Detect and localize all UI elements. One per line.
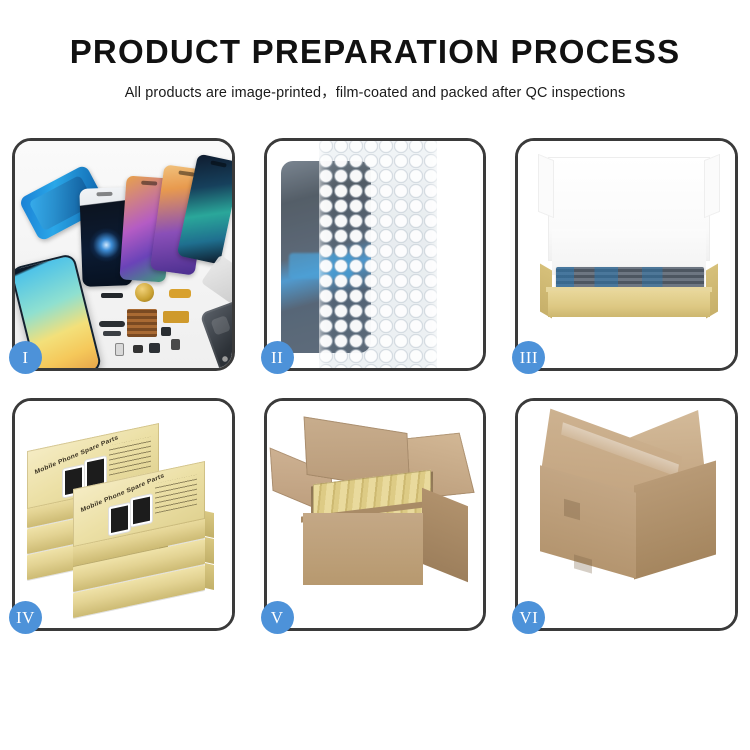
step-badge-2: II: [261, 341, 294, 374]
step-badge-5: V: [261, 601, 294, 634]
step-badge-4: IV: [9, 601, 42, 634]
gold-flex-icon: [163, 311, 189, 323]
step-panel-3[interactable]: III: [515, 138, 738, 371]
small-component-icon: [161, 327, 171, 336]
sim-tray-icon: [115, 343, 124, 356]
step-3-image: [518, 141, 735, 368]
step-4-image: Mobile Phone Spare Parts Mobile Phone Sp…: [15, 401, 232, 628]
step-2-image: [267, 141, 484, 368]
box-side: [205, 537, 214, 564]
notch-icon: [178, 170, 194, 176]
step-badge-1: I: [9, 341, 42, 374]
notch-icon: [210, 160, 226, 167]
step-panel-1[interactable]: I: [12, 138, 235, 371]
page-subtitle: All products are image-printed，film-coat…: [0, 81, 750, 102]
small-component-icon: [133, 345, 143, 353]
bubble-wrap-edge-highlight: [319, 141, 437, 368]
earpiece-bar-icon: [101, 293, 123, 298]
retail-box-stack: Mobile Phone Spare Parts Mobile Phone Sp…: [21, 415, 232, 615]
process-row-bottom: Mobile Phone Spare Parts Mobile Phone Sp…: [12, 398, 738, 631]
page-title: PRODUCT PREPARATION PROCESS: [0, 34, 750, 70]
step-badge-6: VI: [512, 601, 545, 634]
phone-photo-icon: [109, 503, 130, 535]
ribbon-cable-icon: [103, 331, 121, 336]
box-side: [205, 563, 214, 590]
page-header: PRODUCT PREPARATION PROCESS All products…: [0, 0, 750, 102]
box-spec-lines: [109, 437, 151, 476]
process-row-top: I II III: [12, 138, 738, 371]
speaker-coil-icon: [135, 283, 154, 302]
camera-module-icon: [149, 343, 160, 353]
notch-icon: [141, 181, 157, 186]
box-side: [205, 511, 214, 538]
box-front-panel: [548, 291, 710, 317]
step-panel-2[interactable]: II: [264, 138, 487, 371]
step-panel-6[interactable]: VI: [515, 398, 738, 631]
step-panel-5[interactable]: V: [264, 398, 487, 631]
process-steps-grid: I II III: [12, 138, 738, 631]
chip-grid-icon: [127, 309, 157, 337]
step-badge-3: III: [512, 341, 545, 374]
small-component-icon: [171, 339, 180, 350]
phone-photo-icon: [131, 494, 152, 526]
step-6-image: [518, 401, 735, 628]
spare-parts-cluster: [97, 281, 232, 367]
step-panel-4[interactable]: Mobile Phone Spare Parts Mobile Phone Sp…: [12, 398, 235, 631]
flex-cable-icon: [169, 289, 191, 298]
box-spec-lines: [155, 475, 197, 514]
carton-front-panel: [303, 513, 423, 585]
step-1-image: [15, 141, 232, 368]
ribbon-cable-icon: [99, 321, 125, 327]
notch-icon: [96, 192, 112, 197]
step-5-image: [267, 401, 484, 628]
